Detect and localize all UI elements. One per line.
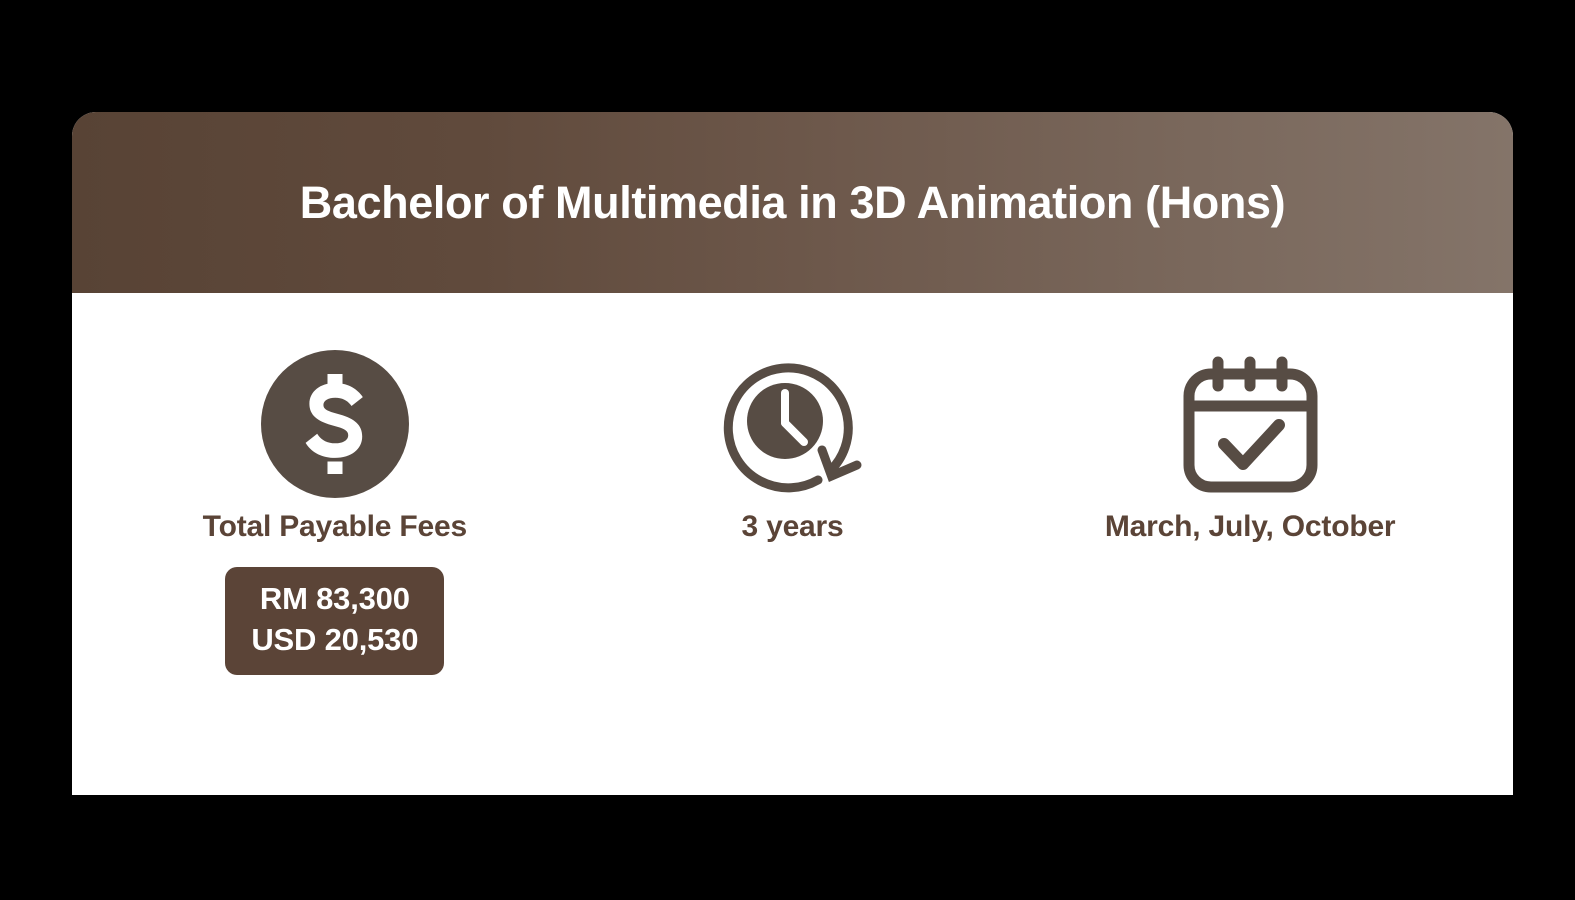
screenshot-root: Bachelor of Multimedia in 3D Animation (… [0,0,1575,900]
info-column-duration: 3 years [564,341,1022,795]
info-column-label: 3 years [741,506,843,549]
dollar-coin-icon [261,341,409,506]
info-column-label: March, July, October [1105,506,1396,549]
calendar-check-icon [1178,341,1323,506]
program-info-card: Bachelor of Multimedia in 3D Animation (… [72,112,1513,795]
info-column-label: Total Payable Fees [203,506,467,549]
card-header: Bachelor of Multimedia in 3D Animation (… [72,112,1513,293]
card-body: Total Payable Fees RM 83,300 USD 20,530 [72,293,1513,795]
page-title: Bachelor of Multimedia in 3D Animation (… [260,177,1325,229]
clock-duration-icon [712,341,872,506]
info-column-fees: Total Payable Fees RM 83,300 USD 20,530 [106,341,564,795]
fee-amount-myr: RM 83,300 [260,578,410,620]
fee-amount-usd: USD 20,530 [251,619,418,661]
status-badge: RM 83,300 USD 20,530 [225,567,444,675]
info-column-intakes: March, July, October [1021,341,1479,795]
